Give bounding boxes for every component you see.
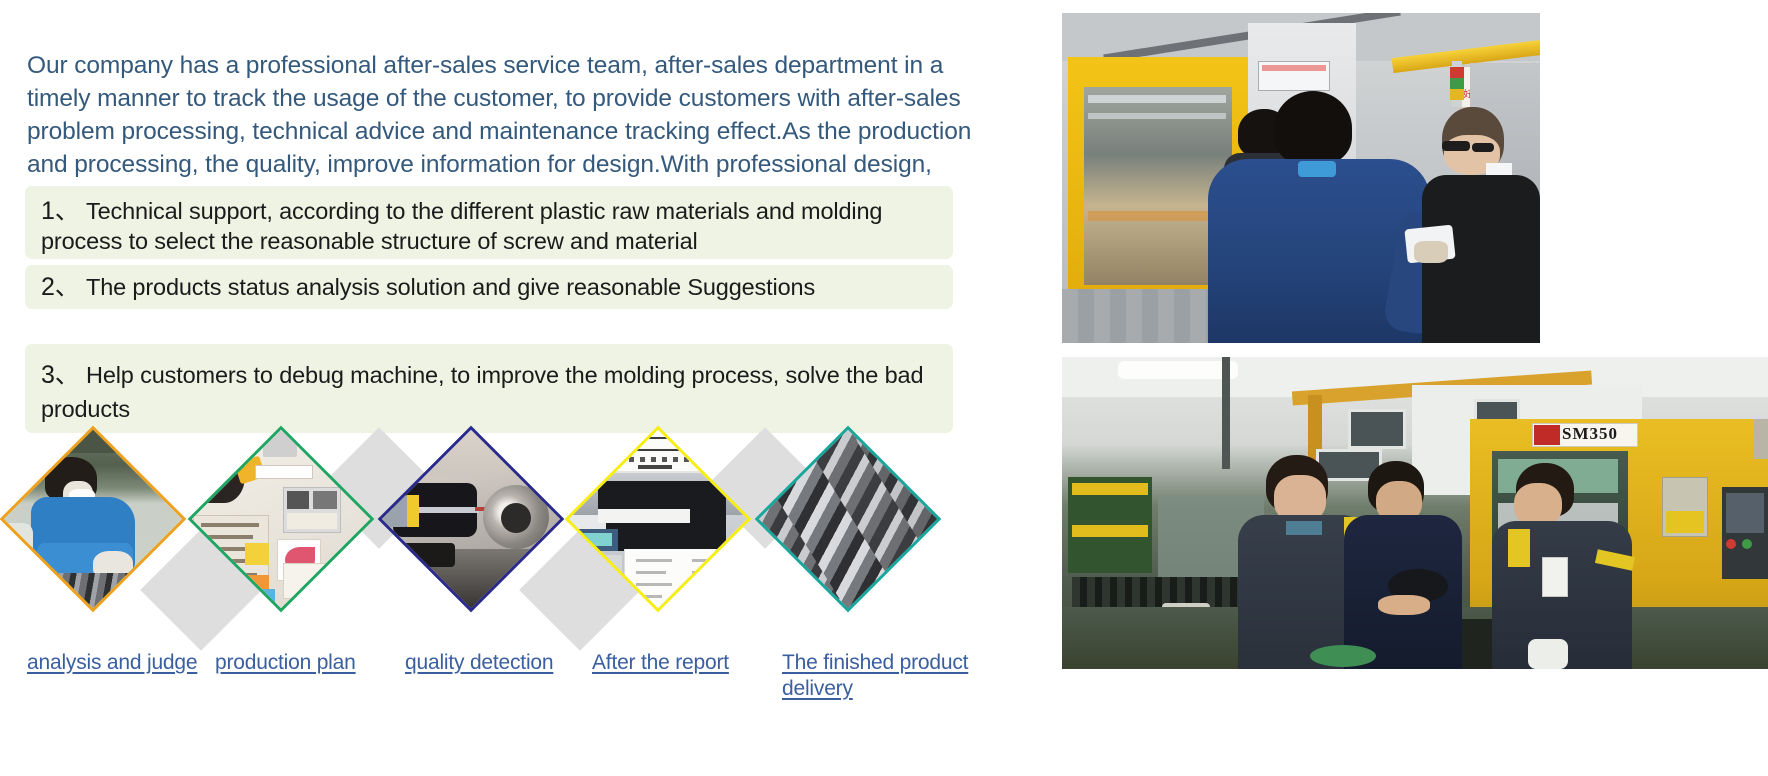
service-point-2-number: 2、: [41, 273, 80, 301]
service-point-3-text-line2: products: [41, 394, 935, 424]
service-point-1: 1、 Technical support, according to the d…: [25, 186, 953, 259]
process-step-1[interactable]: analysis and judge: [27, 450, 213, 705]
process-step-5[interactable]: The finished product delivery: [782, 450, 968, 705]
process-step-1-caption[interactable]: analysis and judge: [27, 650, 237, 676]
process-diamond-row: analysis and judge: [0, 450, 1010, 776]
left-content-column: Our company has a professional after-sal…: [0, 0, 1010, 776]
service-point-3: 3、 Help customers to debug machine, to i…: [25, 344, 953, 433]
photo-customer-training: 凡事认真， 好过事后追悔！: [1062, 13, 1540, 343]
service-point-3-text: Help customers to debug machine, to impr…: [86, 362, 923, 388]
slide-canvas: Our company has a professional after-sal…: [0, 0, 1768, 776]
service-point-1-text: Technical support, according to the diff…: [41, 198, 882, 254]
process-step-3-caption[interactable]: quality detection: [405, 650, 615, 676]
process-step-4-caption[interactable]: After the report: [592, 650, 802, 676]
service-point-1-number: 1、: [41, 197, 80, 225]
report-printer-photo-icon: [565, 426, 752, 613]
service-point-3-number: 3、: [41, 361, 80, 389]
process-step-2-caption[interactable]: production plan: [215, 650, 425, 676]
process-step-3[interactable]: quality detection: [405, 450, 591, 705]
worker-grinding-photo-icon: [0, 426, 186, 613]
photo-part-inspection: SM350: [1062, 357, 1768, 669]
process-step-4[interactable]: After the report: [592, 450, 778, 705]
measuring-instrument-photo-icon: [378, 426, 565, 613]
service-point-2: 2、 The products status analysis solution…: [25, 265, 953, 309]
service-point-2-text: The products status analysis solution an…: [86, 274, 815, 300]
process-step-2[interactable]: production plan: [215, 450, 401, 705]
machine-model-label: SM350: [1562, 424, 1634, 444]
finished-screws-photo-icon: [755, 426, 942, 613]
planning-board-photo-icon: [188, 426, 375, 613]
process-step-5-caption[interactable]: The finished product delivery: [782, 650, 992, 702]
